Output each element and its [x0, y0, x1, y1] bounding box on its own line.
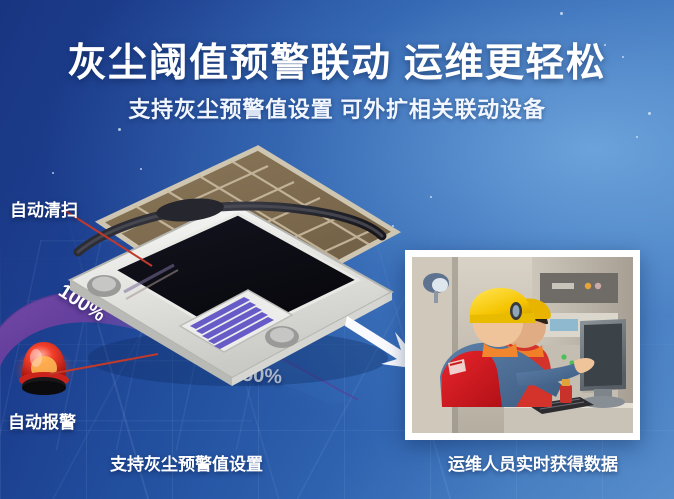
- sparkle-dot: [52, 172, 54, 174]
- auto-alarm-pointer: [48, 348, 168, 388]
- panel-roller-left: [87, 275, 121, 297]
- promo-banner: 灰尘阈值预警联动 运维更轻松 支持灰尘预警值设置 可外扩相关联动设备: [0, 0, 674, 499]
- auto-sweep-label: 自动清扫: [10, 196, 78, 221]
- panel-roller-right: [265, 326, 299, 348]
- page-subtitle: 支持灰尘预警值设置 可外扩相关联动设备: [0, 92, 674, 124]
- caption-right: 运维人员实时获得数据: [448, 450, 618, 475]
- sparkle-dot: [118, 128, 121, 131]
- sparkle-dot: [430, 196, 432, 198]
- photo-illustration: [412, 257, 633, 433]
- sparkle-dot: [636, 136, 638, 138]
- sparkle-dot: [560, 12, 563, 15]
- caption-left: 支持灰尘预警值设置: [110, 450, 263, 475]
- auto-alarm-label: 自动报警: [8, 408, 76, 433]
- technician-photo-card: [405, 250, 640, 440]
- technician-photo: [412, 257, 633, 433]
- auto-sweep-pointer: [60, 206, 190, 278]
- page-title: 灰尘阈值预警联动 运维更轻松: [0, 32, 674, 88]
